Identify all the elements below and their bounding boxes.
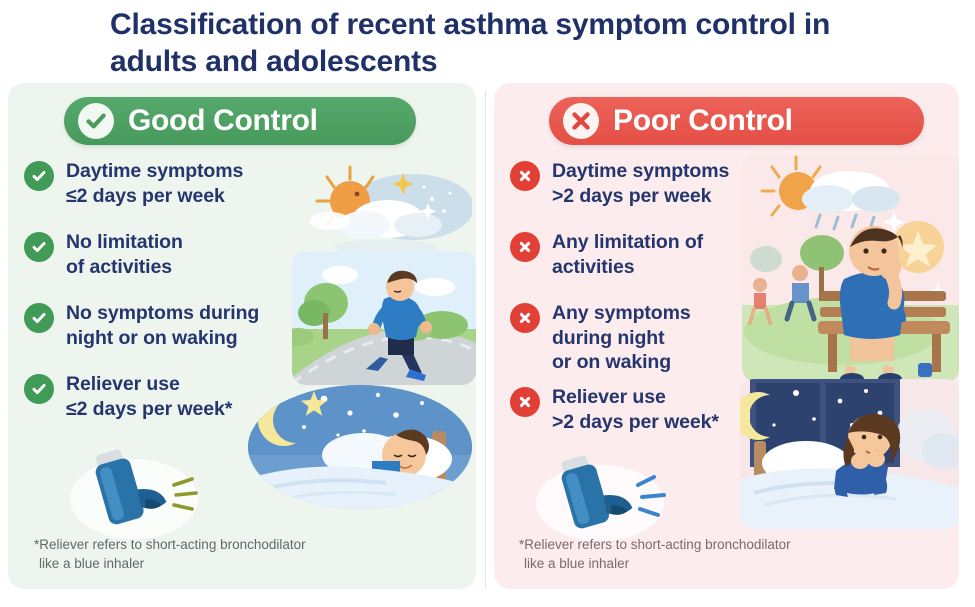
check-circle-icon: [24, 374, 54, 404]
list-item-line: >2 days per week*: [552, 410, 719, 435]
list-item-text: Daytime symptoms >2 days per week: [552, 159, 729, 208]
list-item-line: or on waking: [552, 350, 691, 375]
check-circle-icon: [24, 303, 54, 333]
list-item-line: ≤2 days per week*: [66, 397, 232, 422]
awake-coughing-girl-illustration: [740, 379, 959, 529]
good-control-header: Good Control: [64, 97, 416, 145]
x-circle-icon: [510, 303, 540, 333]
running-man-illustration: [292, 251, 476, 385]
footnote-line: like a blue inhaler: [34, 554, 394, 573]
panel-divider: [476, 83, 494, 607]
list-item-line: Daytime symptoms: [66, 159, 243, 184]
good-control-panel: Good Control Daytime symptoms ≤2 days pe…: [8, 83, 476, 589]
list-item-line: night or on waking: [66, 326, 259, 351]
rainy-sun-and-coughing-boy-illustration: [742, 155, 959, 383]
list-item-text: Any symptoms during night or on waking: [552, 301, 691, 375]
list-item-text: No symptoms during night or on waking: [66, 301, 259, 350]
poor-control-footnote: *Reliever refers to short-acting broncho…: [519, 535, 879, 573]
list-item-text: No limitation of activities: [66, 230, 183, 279]
x-circle-icon: [563, 103, 599, 139]
poor-control-label: Poor Control: [613, 104, 793, 138]
sun-and-clouds-illustration: [300, 159, 472, 264]
check-circle-icon: [24, 232, 54, 262]
list-item-line: Any limitation of: [552, 230, 703, 255]
x-circle-icon: [510, 161, 540, 191]
list-item-line: ≤2 days per week: [66, 184, 243, 209]
x-circle-icon: [510, 232, 540, 262]
footnote-line: *Reliever refers to short-acting broncho…: [519, 535, 879, 554]
list-item: No limitation of activities: [24, 230, 324, 279]
blue-inhaler-illustration: [56, 433, 216, 549]
comparison-panels: Good Control Daytime symptoms ≤2 days pe…: [0, 83, 975, 607]
list-item-text: Reliever use ≤2 days per week*: [66, 372, 232, 421]
list-item-line: >2 days per week: [552, 184, 729, 209]
list-item-line: Daytime symptoms: [552, 159, 729, 184]
sleeping-child-illustration: [246, 375, 474, 527]
list-item: Daytime symptoms ≤2 days per week: [24, 159, 324, 208]
list-item-line: during night: [552, 326, 691, 351]
page-title: Classification of recent asthma symptom …: [110, 6, 900, 80]
list-item-line: activities: [552, 255, 703, 280]
list-item-line: No limitation: [66, 230, 183, 255]
list-item-text: Any limitation of activities: [552, 230, 703, 279]
list-item-text: Daytime symptoms ≤2 days per week: [66, 159, 243, 208]
list-item: No symptoms during night or on waking: [24, 301, 324, 350]
poor-control-panel: Poor Control Daytime symptoms >2 days pe…: [494, 83, 959, 589]
list-item-line: Reliever use: [66, 372, 232, 397]
list-item-line: of activities: [66, 255, 183, 280]
list-item-line: Any symptoms: [552, 301, 691, 326]
x-circle-icon: [510, 387, 540, 417]
check-circle-icon: [78, 103, 114, 139]
list-item-line: No symptoms during: [66, 301, 259, 326]
poor-control-header: Poor Control: [549, 97, 924, 145]
good-control-label: Good Control: [128, 104, 318, 138]
good-control-footnote: *Reliever refers to short-acting broncho…: [34, 535, 394, 573]
list-item-text: Reliever use >2 days per week*: [552, 385, 719, 434]
list-item-line: Reliever use: [552, 385, 719, 410]
footnote-line: *Reliever refers to short-acting broncho…: [34, 535, 394, 554]
footnote-line: like a blue inhaler: [519, 554, 879, 573]
check-circle-icon: [24, 161, 54, 191]
